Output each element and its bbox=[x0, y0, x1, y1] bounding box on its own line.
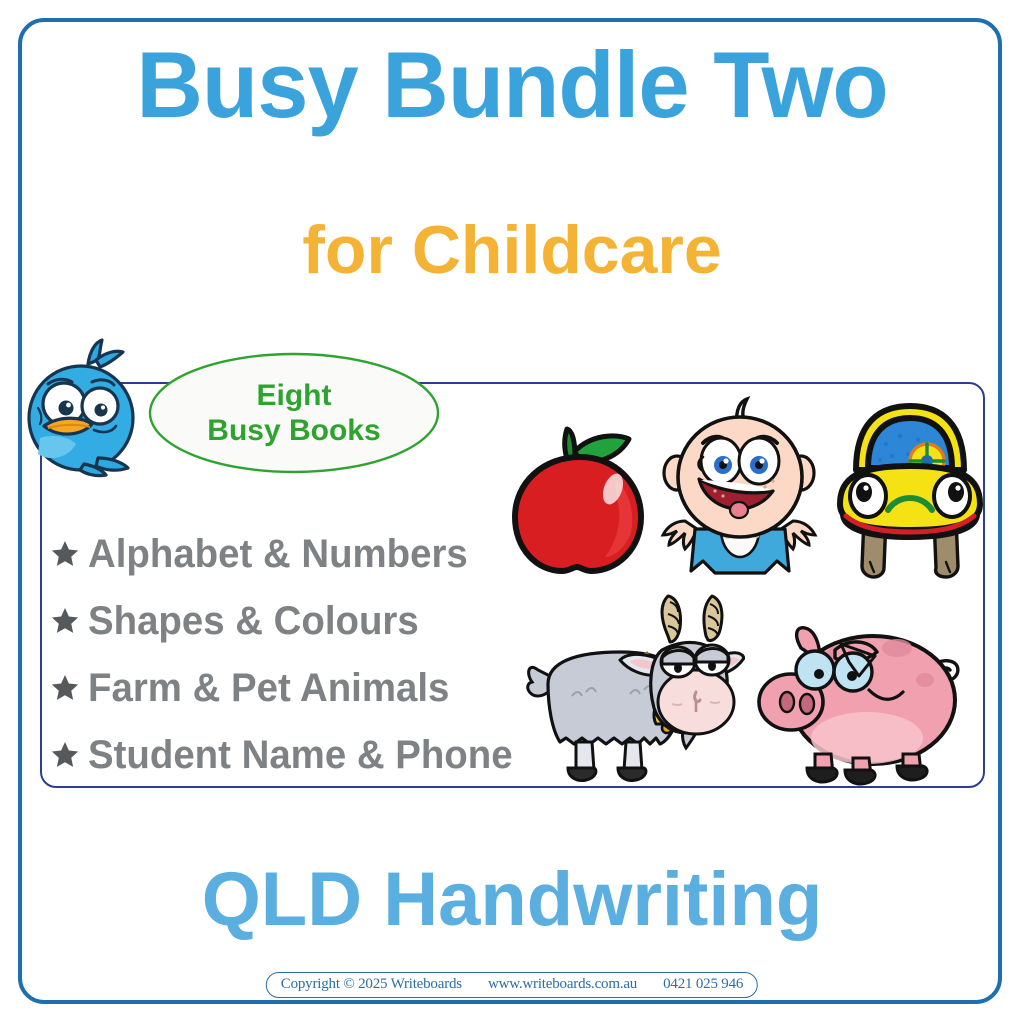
feature-list: Alphabet & Numbers Shapes & Colours Farm… bbox=[50, 520, 520, 788]
badge-line-1: Eight bbox=[257, 378, 332, 413]
copyright-badge: Copyright © 2025 Writeboards www.writebo… bbox=[266, 972, 758, 998]
baby-illustration bbox=[655, 395, 825, 580]
apple-illustration bbox=[505, 415, 655, 575]
star-icon bbox=[50, 673, 80, 703]
star-icon bbox=[50, 606, 80, 636]
badge-line-2: Busy Books bbox=[207, 413, 380, 448]
list-item: Alphabet & Numbers bbox=[50, 520, 520, 587]
page-title: Busy Bundle Two bbox=[10, 36, 1014, 135]
feature-label: Farm & Pet Animals bbox=[88, 668, 449, 708]
star-icon bbox=[50, 740, 80, 770]
phone-text: 0421 025 946 bbox=[663, 976, 743, 993]
list-item: Farm & Pet Animals bbox=[50, 654, 520, 721]
website-text: www.writeboards.com.au bbox=[488, 976, 637, 993]
page-subtitle: for Childcare bbox=[0, 216, 1024, 284]
feature-label: Student Name & Phone bbox=[88, 735, 513, 775]
goat-illustration bbox=[520, 592, 745, 792]
eight-busy-books-badge: Eight Busy Books bbox=[148, 352, 440, 474]
pig-illustration bbox=[757, 618, 969, 790]
copyright-text: Copyright © 2025 Writeboards bbox=[281, 976, 462, 993]
list-item: Student Name & Phone bbox=[50, 721, 520, 788]
poster-canvas: Busy Bundle Two for Childcare bbox=[0, 0, 1024, 1024]
bird-mascot-illustration bbox=[24, 334, 142, 480]
feature-label: Alphabet & Numbers bbox=[88, 534, 468, 574]
feature-label: Shapes & Colours bbox=[88, 601, 419, 641]
star-icon bbox=[50, 539, 80, 569]
bottom-heading: QLD Handwriting bbox=[0, 862, 1024, 938]
car-illustration bbox=[830, 398, 990, 583]
list-item: Shapes & Colours bbox=[50, 587, 520, 654]
